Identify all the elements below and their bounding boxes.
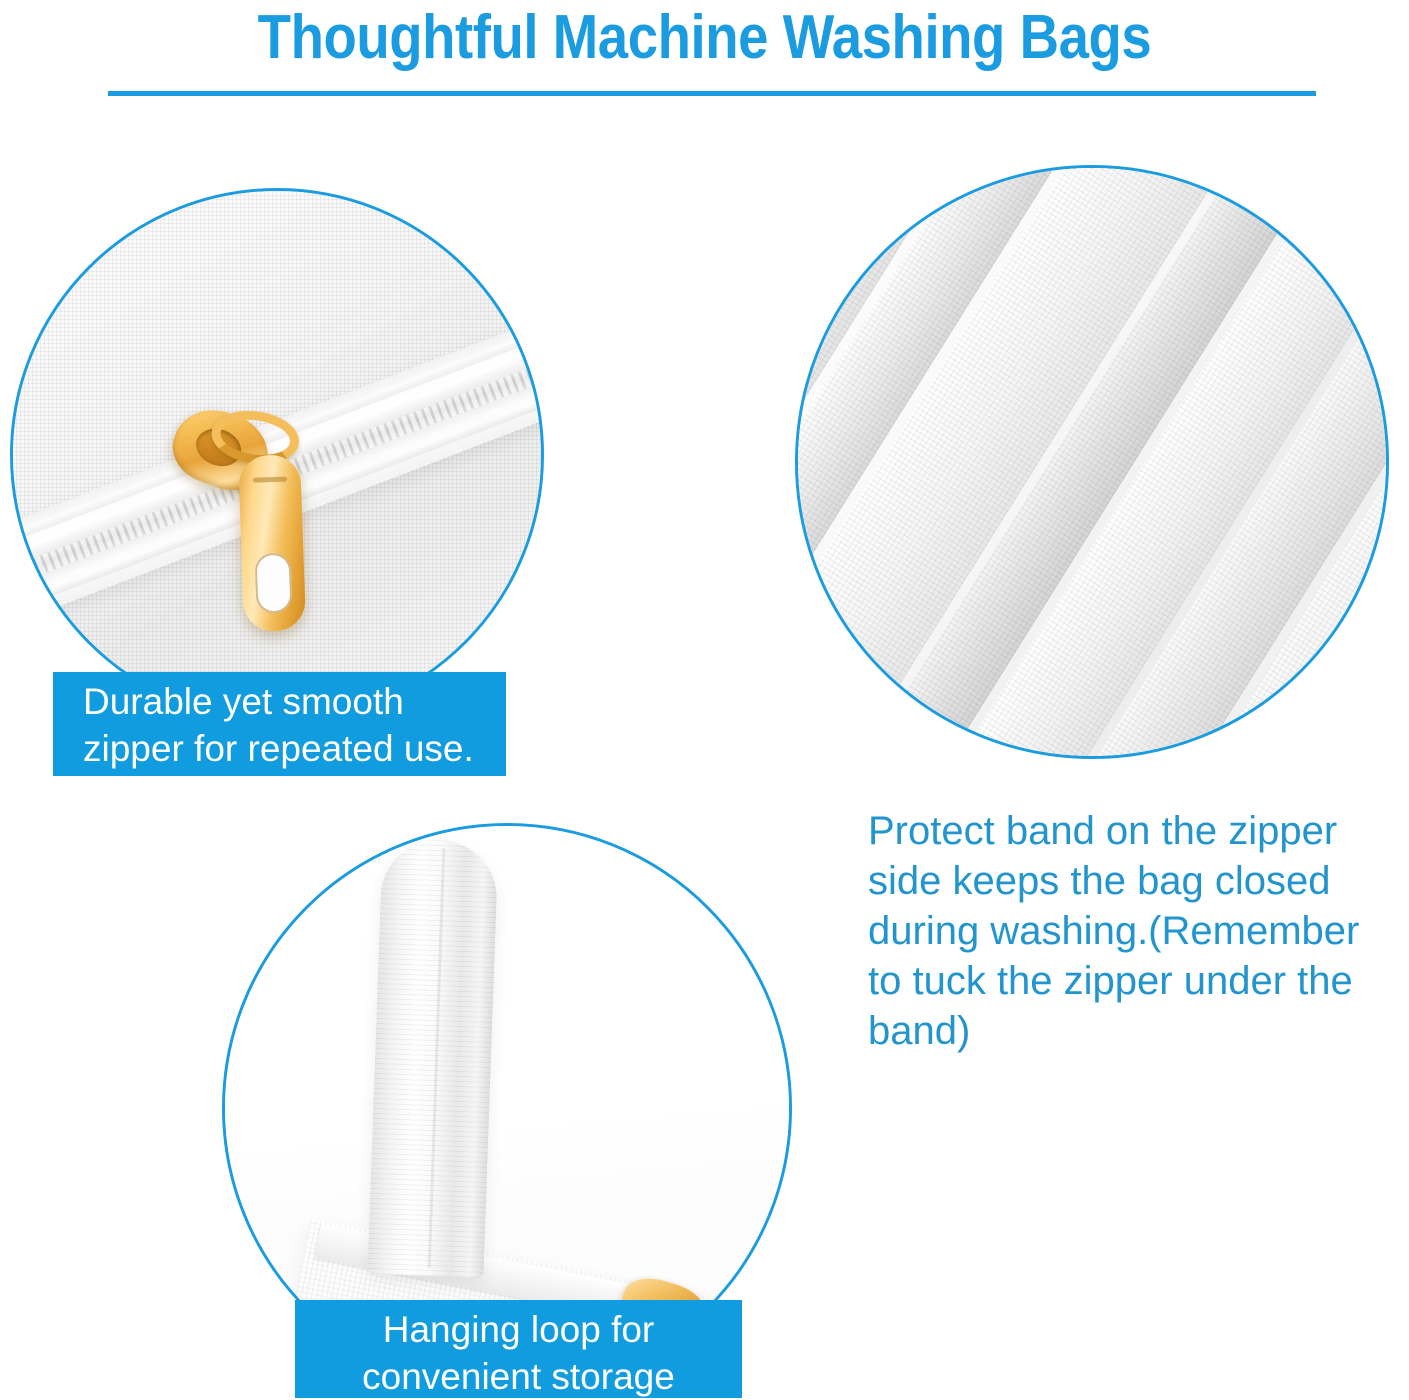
caption-zipper-line-2: zipper for repeated use. <box>83 725 506 772</box>
zipper-pull-tab-notch <box>253 477 287 483</box>
hanging-loop-strap-fold <box>428 848 446 1268</box>
caption-protect-band-line-4: to tuck the zipper under the <box>868 956 1408 1006</box>
caption-protect-band-line-3: during washing.(Remember <box>868 906 1408 956</box>
photo-circle-protect-band <box>795 165 1389 759</box>
caption-protect-band-line-5: band) <box>868 1006 1408 1056</box>
caption-protect-band-line-2: side keeps the bag closed <box>868 856 1408 906</box>
caption-hanging-loop-line-2: convenient storage <box>295 1353 742 1400</box>
fabric-band-stack <box>795 165 1389 759</box>
hanging-loop-strap <box>367 838 498 1278</box>
caption-protect-band-line-1: Protect band on the zipper <box>868 806 1408 856</box>
zipper-pull-tab <box>238 454 306 632</box>
zipper-pull-tab-hole <box>254 552 292 613</box>
caption-hanging-loop-line-1: Hanging loop for <box>295 1306 742 1353</box>
caption-hanging-loop: Hanging loop for convenient storage <box>295 1300 742 1398</box>
page-title: Thoughtful Machine Washing Bags <box>85 2 1325 74</box>
photo-circle-zipper <box>10 188 544 722</box>
header-divider-rule <box>108 91 1316 96</box>
caption-zipper-line-1: Durable yet smooth <box>83 678 506 725</box>
caption-zipper: Durable yet smooth zipper for repeated u… <box>53 672 506 776</box>
caption-protect-band: Protect band on the zipper side keeps th… <box>868 806 1408 1056</box>
